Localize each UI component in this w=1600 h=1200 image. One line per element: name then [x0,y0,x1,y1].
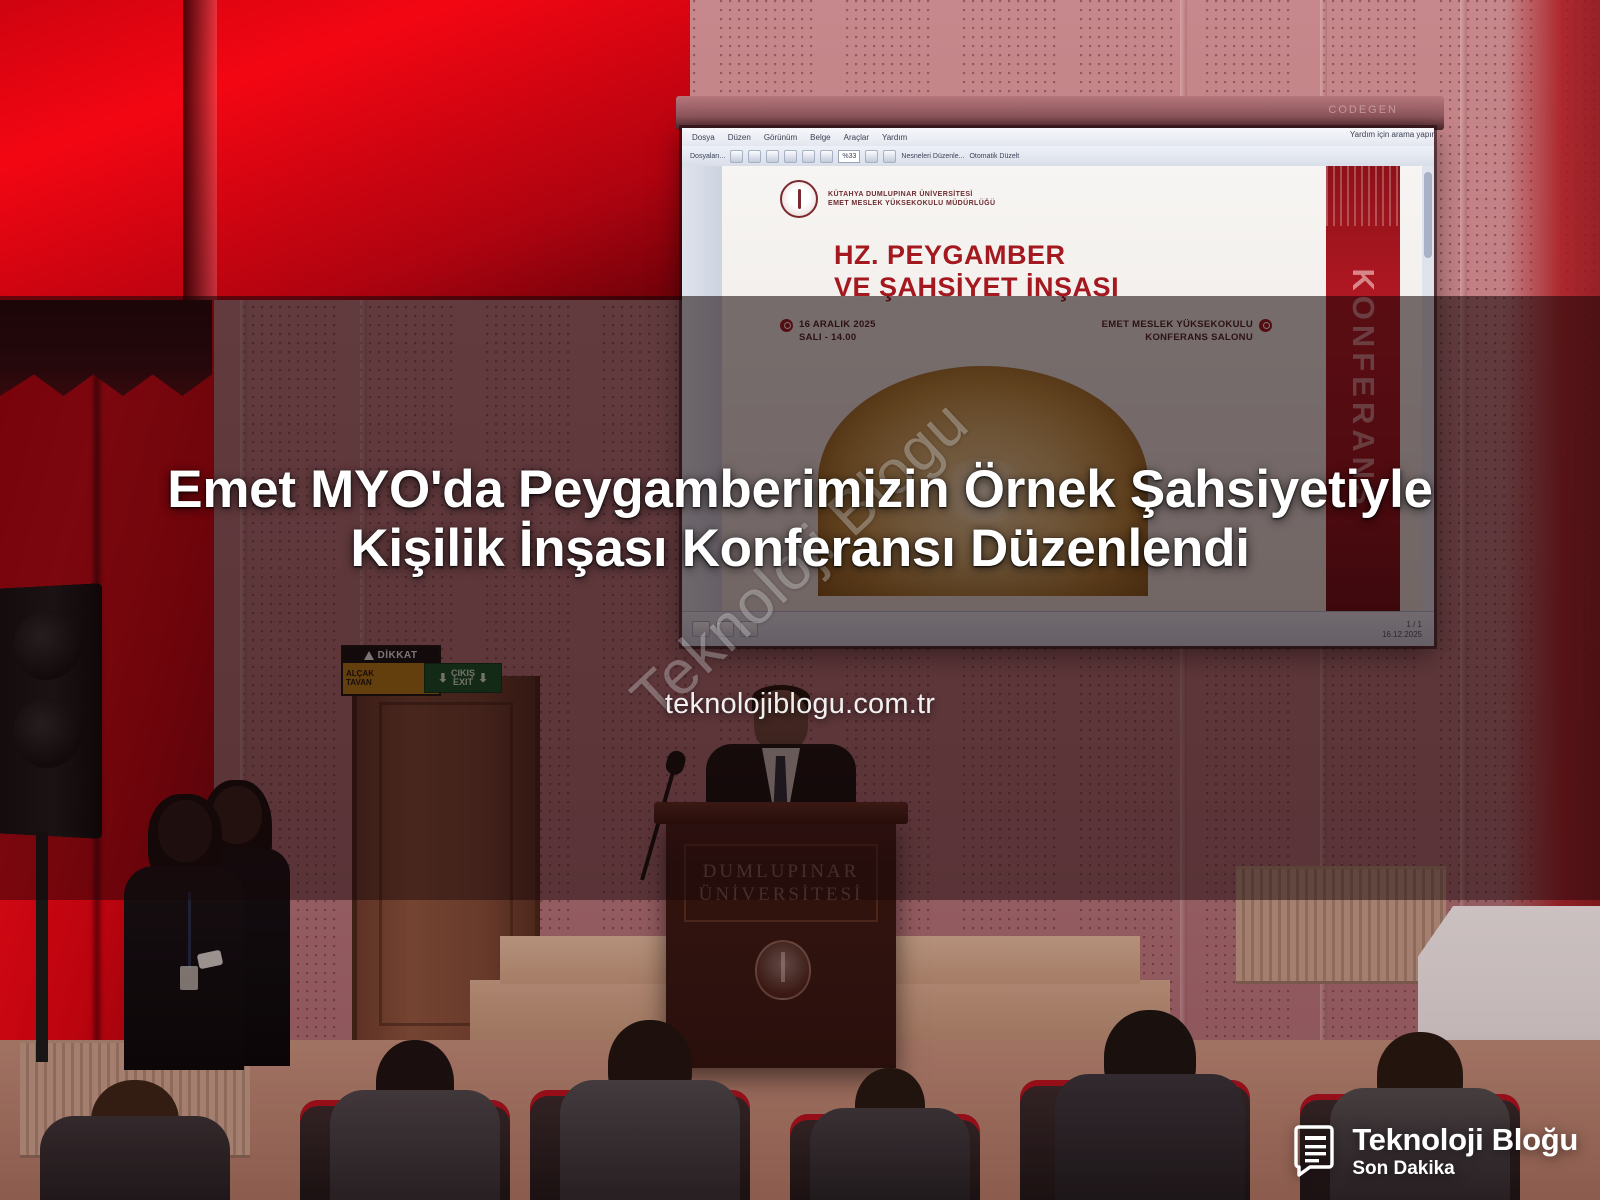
brand-logo-subtitle: Son Dakika [1352,1159,1578,1178]
brand-logo-text: Teknoloji Bloğu Son Dakika [1352,1124,1578,1178]
brand-logo[interactable]: Teknoloji Bloğu Son Dakika [1293,1124,1578,1178]
page-title: Emet MYO'da Peygamberimizin Örnek Şahsiy… [0,460,1600,579]
brand-logo-title: Teknoloji Bloğu [1352,1124,1578,1155]
site-url-label: teknolojiblogu.com.tr [0,688,1600,721]
top-scrim [0,0,1600,296]
news-document-icon [1293,1125,1339,1177]
news-hero-image: CODEGEN Dosya Düzen Görünüm Belge Araçla… [0,0,1600,1200]
middle-darkening-scrim [0,296,1600,900]
